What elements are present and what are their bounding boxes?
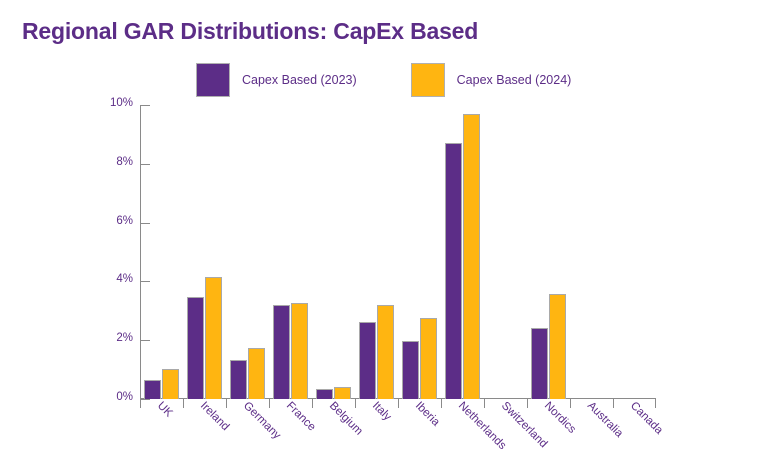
bar-2024[interactable]: [334, 387, 351, 399]
page-title: Regional GAR Distributions: CapEx Based: [22, 18, 478, 45]
bar-2024[interactable]: [205, 277, 222, 399]
x-label-cell: Nordics: [527, 404, 570, 464]
bar-2024[interactable]: [463, 114, 480, 399]
x-label-cell: Germany: [226, 404, 269, 464]
bar-2023[interactable]: [230, 360, 247, 399]
bar-group: [269, 105, 312, 399]
bar-group: [355, 105, 398, 399]
bar-group: [484, 105, 527, 399]
chart-page: Regional GAR Distributions: CapEx Based …: [0, 0, 768, 471]
x-label-cell: UK: [140, 404, 183, 464]
legend-label-2024: Capex Based (2024): [457, 73, 572, 87]
bar-2024[interactable]: [162, 369, 179, 399]
bar-groups: [140, 105, 656, 399]
y-tick-label: 6%: [116, 215, 133, 227]
bar-2023[interactable]: [187, 297, 204, 399]
x-axis-label-uk: UK: [154, 400, 174, 420]
x-label-cell: Netherlands: [441, 404, 484, 464]
bar-2024[interactable]: [549, 294, 566, 399]
x-axis-label-iberia: Iberia: [412, 400, 441, 429]
bar-group: [570, 105, 613, 399]
legend-item-2023[interactable]: Capex Based (2023): [196, 63, 357, 97]
x-label-cell: Australia: [570, 404, 613, 464]
y-tick: 0%: [141, 399, 150, 400]
legend-swatch-icon-2023: [196, 63, 230, 97]
bar-2023[interactable]: [531, 328, 548, 399]
bar-group: [441, 105, 484, 399]
bar-group: [226, 105, 269, 399]
legend-swatch-icon-2024: [411, 63, 445, 97]
y-tick-label: 8%: [116, 156, 133, 168]
legend-item-2024[interactable]: Capex Based (2024): [411, 63, 572, 97]
y-tick-label: 4%: [116, 273, 133, 285]
bar-2023[interactable]: [445, 143, 462, 399]
y-tick-label: 0%: [116, 391, 133, 403]
x-label-cell: Switzerland: [484, 404, 527, 464]
bar-2023[interactable]: [316, 389, 333, 399]
x-label-cell: France: [269, 404, 312, 464]
x-axis-label-italy: Italy: [369, 400, 392, 423]
x-label-cell: Belgium: [312, 404, 355, 464]
bar-group: [312, 105, 355, 399]
x-label-cell: Iberia: [398, 404, 441, 464]
chart-legend: Capex Based (2023) Capex Based (2024): [196, 63, 571, 97]
bar-2023[interactable]: [273, 305, 290, 399]
legend-label-2023: Capex Based (2023): [242, 73, 357, 87]
x-label-cell: Canada: [613, 404, 656, 464]
bar-group: [527, 105, 570, 399]
bar-2023[interactable]: [144, 380, 161, 399]
x-axis-label-canada: Canada: [627, 400, 664, 437]
y-tick-label: 10%: [110, 97, 133, 109]
bar-2023[interactable]: [359, 322, 376, 399]
bar-2024[interactable]: [420, 318, 437, 399]
bar-2024[interactable]: [248, 348, 265, 399]
x-label-cell: Ireland: [183, 404, 226, 464]
y-tick-label: 2%: [116, 332, 133, 344]
plot-area: 0%2%4%6%8%10%: [140, 105, 656, 399]
bar-2024[interactable]: [377, 305, 394, 399]
x-axis-labels: UKIrelandGermanyFranceBelgiumItalyIberia…: [140, 404, 656, 464]
bar-2024[interactable]: [291, 303, 308, 399]
bar-group: [398, 105, 441, 399]
bar-2023[interactable]: [402, 341, 419, 399]
x-label-cell: Italy: [355, 404, 398, 464]
bar-group: [140, 105, 183, 399]
bar-group: [613, 105, 656, 399]
bar-group: [183, 105, 226, 399]
